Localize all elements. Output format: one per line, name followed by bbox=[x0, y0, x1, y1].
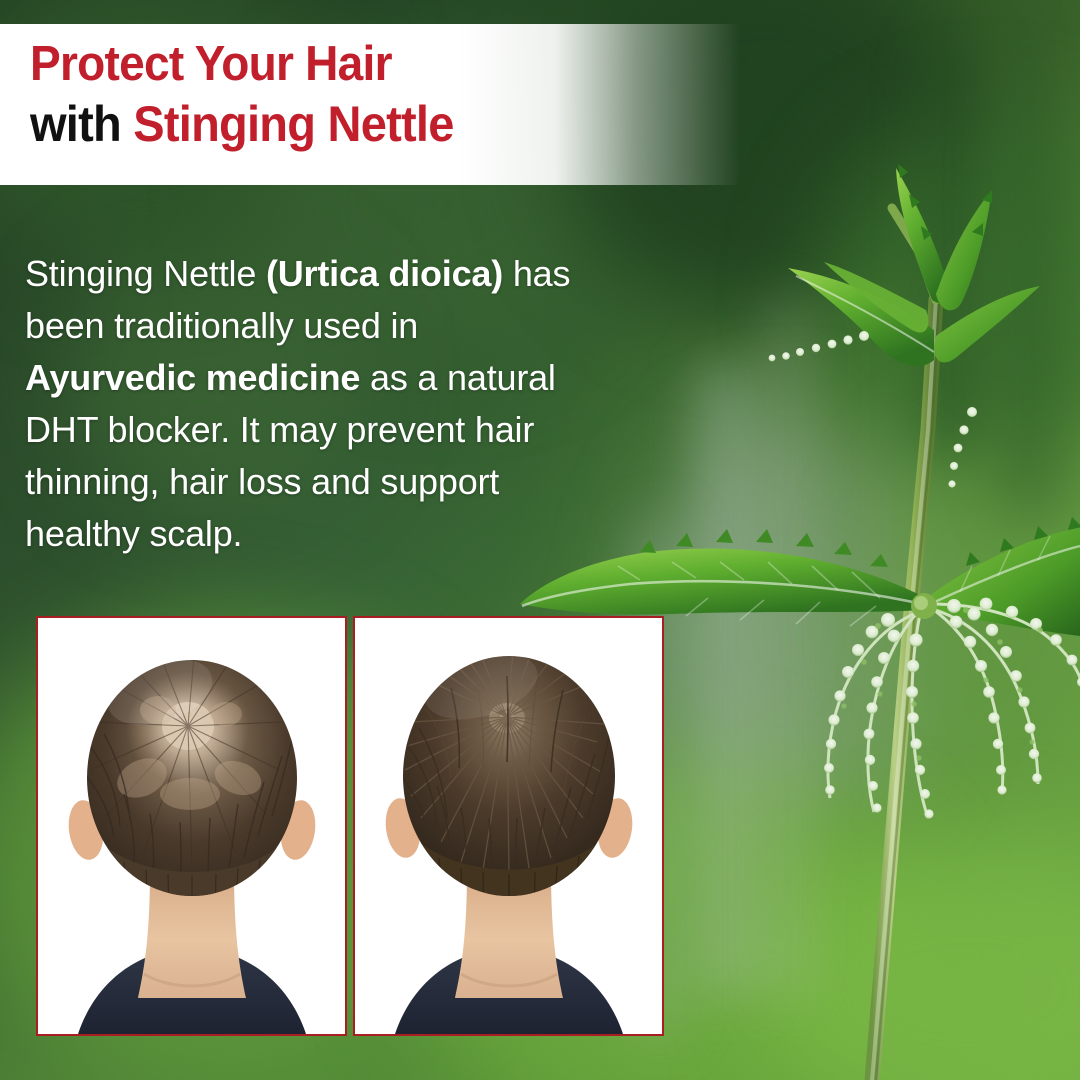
body-paragraph: Stinging Nettle (Urtica dioica) has been… bbox=[25, 248, 585, 560]
poster-canvas: Protect Your Hair with Stinging Nettle S… bbox=[0, 0, 1080, 1080]
title-line2-highlight: Stinging Nettle bbox=[133, 96, 453, 152]
photo-after bbox=[353, 616, 664, 1036]
photo-before bbox=[36, 616, 347, 1036]
page-title: Protect Your Hair with Stinging Nettle bbox=[30, 34, 594, 154]
before-after-gallery bbox=[36, 616, 670, 1034]
body-seg-species: (Urtica dioica) bbox=[266, 253, 503, 294]
body-seg-1: Stinging Nettle bbox=[25, 253, 266, 294]
title-line2-prefix: with bbox=[30, 96, 133, 152]
body-seg-ayurvedic: Ayurvedic medicine bbox=[25, 357, 360, 398]
title-line1: Protect Your Hair bbox=[30, 37, 392, 91]
